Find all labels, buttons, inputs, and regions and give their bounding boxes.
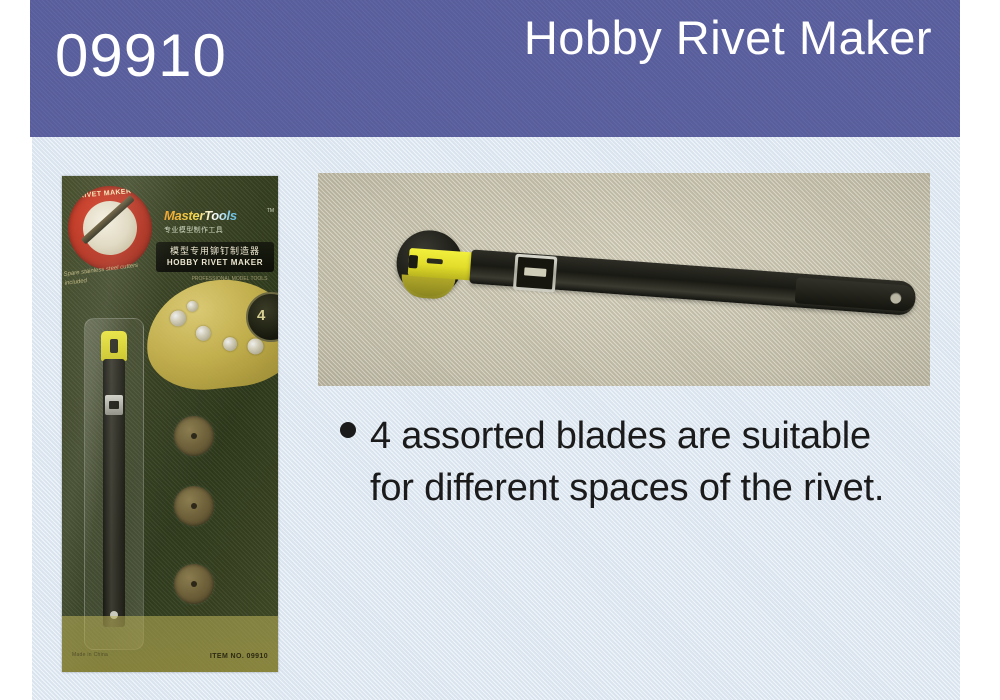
feature-list: 4 assorted blades are suitable for diffe… [340, 410, 900, 514]
feature-text: 4 assorted blades are suitable for diffe… [370, 410, 900, 514]
tool-brand-badge [513, 254, 558, 293]
blade-holder-slot [427, 258, 443, 264]
tool-product-photo [318, 173, 930, 386]
product-spec-page: 09910 Hobby Rivet Maker RIVET MAKER Spar… [0, 0, 1000, 700]
package-photo: RIVET MAKER Spare stainless steel cutter… [62, 176, 278, 672]
bullet-icon [340, 422, 356, 438]
badge-inner [516, 257, 554, 290]
item-number: 09910 [55, 26, 227, 86]
page-title: Hobby Rivet Maker [524, 14, 932, 61]
rivet-maker-tool [393, 216, 918, 344]
package-origin-text: Made in China [72, 652, 108, 658]
package-item-number: ITEM NO. 09910 [210, 653, 268, 660]
header-band: 09910 Hobby Rivet Maker [30, 0, 960, 137]
feature-item: 4 assorted blades are suitable for diffe… [340, 410, 900, 514]
blade-holder-notch [408, 255, 418, 269]
package-footer-strip: Made in China ITEM NO. 09910 [62, 616, 278, 672]
package-gloss-sheen [62, 176, 278, 672]
